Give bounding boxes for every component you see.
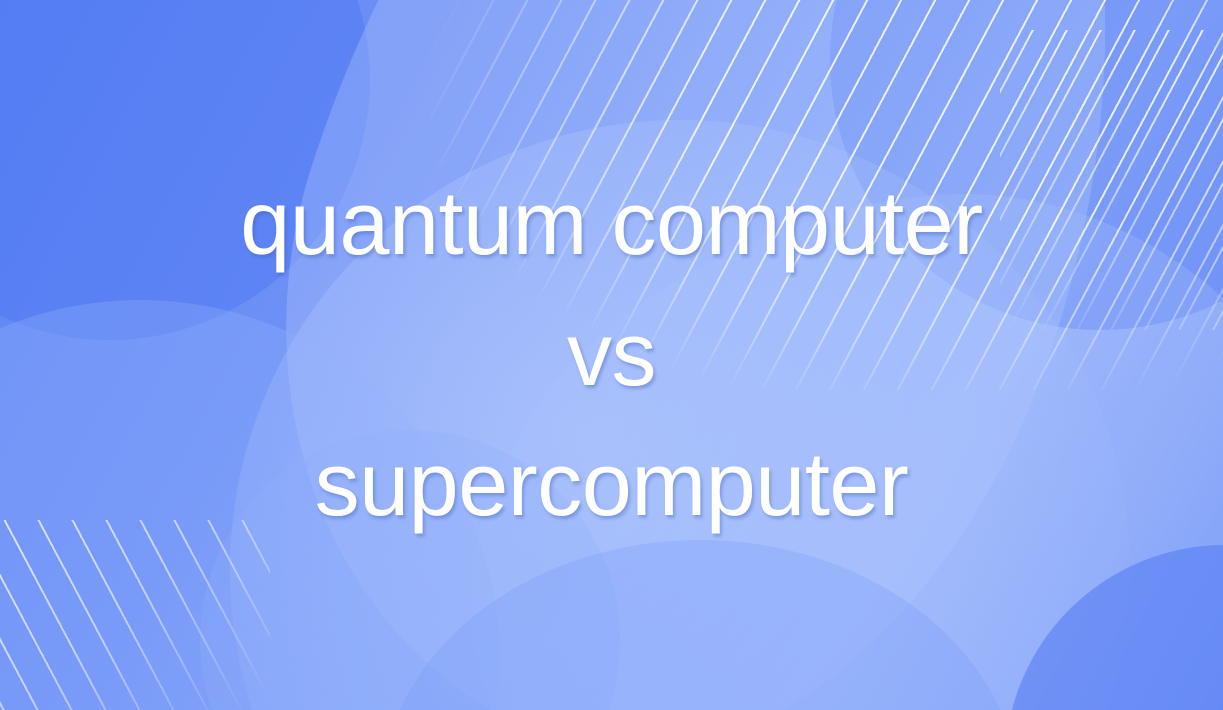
title-banner: quantum computer vs supercomputer: [0, 0, 1223, 710]
title-line-3: supercomputer: [315, 420, 909, 551]
page-title: quantum computer vs supercomputer: [0, 0, 1223, 710]
title-line-2: vs: [567, 290, 656, 421]
title-line-1: quantum computer: [240, 159, 982, 290]
